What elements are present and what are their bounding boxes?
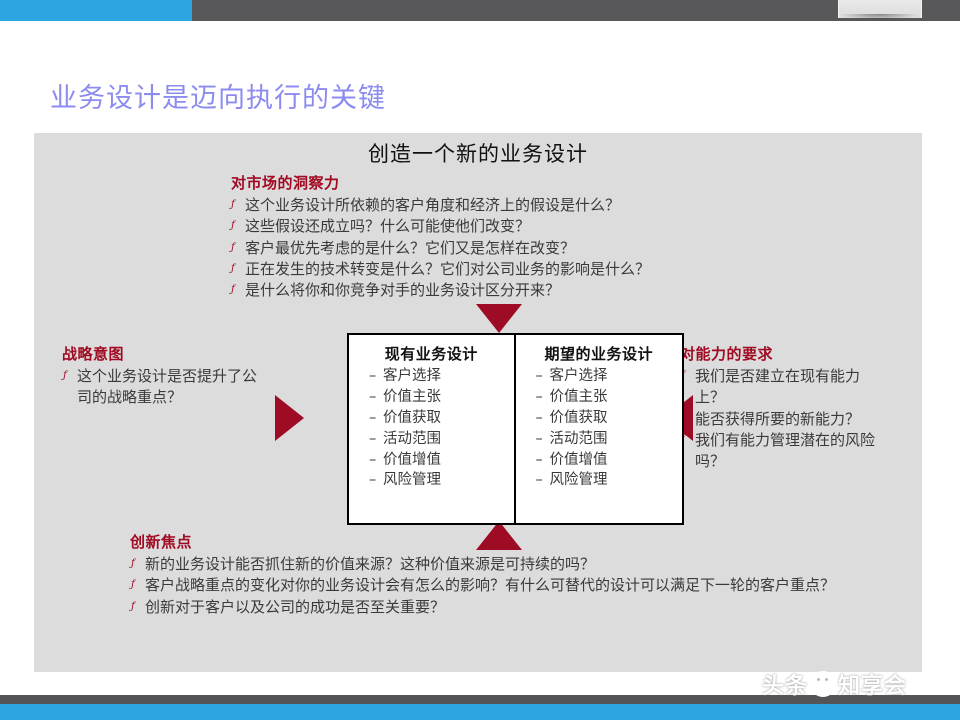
dash-marker: – xyxy=(536,387,550,408)
list-item: –价值增值 xyxy=(536,450,683,471)
bullet-icon: ƒ xyxy=(231,219,235,233)
item-text: 客户选择 xyxy=(550,368,608,384)
design-column-current: 现有业务设计 –客户选择 –价值主张 –价值获取 –活动范围 –价值增值 –风险… xyxy=(349,335,516,523)
bullet-icon: ƒ xyxy=(131,600,135,614)
dash-marker: – xyxy=(536,450,550,471)
item-text: 价值增值 xyxy=(383,452,441,468)
item-text: 价值获取 xyxy=(550,410,608,426)
bullet-icon: ƒ xyxy=(231,198,235,212)
dash-marker: – xyxy=(369,429,383,450)
market-insight-bullets: ƒ这个业务设计所依赖的客户角度和经济上的假设是什么？ ƒ这些假设还成立吗？什么可… xyxy=(230,195,830,301)
list-item: –客户选择 xyxy=(536,366,683,387)
design-column-items: –客户选择 –价值主张 –价值获取 –活动范围 –价值增值 –风险管理 xyxy=(349,366,514,491)
item-text: 价值主张 xyxy=(383,389,441,405)
list-item: ƒ客户战略重点的变化对你的业务设计会有怎么的影响？有什么可替代的设计可以满足下一… xyxy=(130,575,850,596)
bullet-icon: ƒ xyxy=(231,262,235,276)
bottom-bar-blue-segment xyxy=(0,704,960,720)
list-item: –价值主张 xyxy=(369,387,514,408)
list-item: –价值主张 xyxy=(536,387,683,408)
list-item: –风险管理 xyxy=(369,470,514,491)
list-item: ƒ这些假设还成立吗？什么可能使他们改变？ xyxy=(230,216,830,237)
strategic-intent-bullets: ƒ这个业务设计是否提升了公司的战略重点？ xyxy=(62,366,262,409)
content-panel: 创造一个新的业务设计 对市场的洞察力 ƒ这个业务设计所依赖的客户角度和经济上的假… xyxy=(34,133,922,672)
list-item: –价值获取 xyxy=(369,408,514,429)
bullet-text: 能否获得所要的新能力？ xyxy=(695,410,860,428)
item-text: 价值获取 xyxy=(383,410,441,426)
list-item: ƒ创新对于客户以及公司的成功是否至关重要？ xyxy=(130,597,850,618)
bullet-icon: ƒ xyxy=(131,578,135,592)
design-comparison-box: 现有业务设计 –客户选择 –价值主张 –价值获取 –活动范围 –价值增值 –风险… xyxy=(347,333,684,525)
list-item: ƒ是什么将你和你竞争对手的业务设计区分开来？ xyxy=(230,280,830,301)
item-text: 风险管理 xyxy=(550,472,608,488)
bullet-text: 新的业务设计能否抓住新的价值来源？这种价值来源是可持续的吗？ xyxy=(145,555,595,573)
list-item: ƒ我们是否建立在现有能力上？ xyxy=(680,366,880,409)
dash-marker: – xyxy=(369,387,383,408)
list-item: ƒ这个业务设计是否提升了公司的战略重点？ xyxy=(62,366,262,409)
item-text: 风险管理 xyxy=(383,472,441,488)
list-item: ƒ新的业务设计能否抓住新的价值来源？这种价值来源是可持续的吗？ xyxy=(130,554,850,575)
list-item: ƒ客户最优先考虑的是什么？它们又是怎样在改变？ xyxy=(230,238,830,259)
list-item: ƒ能否获得所要的新能力？ xyxy=(680,409,880,430)
dash-marker: – xyxy=(369,366,383,387)
strategic-intent-heading: 战略意图 xyxy=(62,343,262,364)
arrow-up-icon xyxy=(476,521,522,550)
item-text: 客户选择 xyxy=(383,368,441,384)
bullet-icon: ƒ xyxy=(131,557,135,571)
list-item: ƒ我们有能力管理潜在的风险吗？ xyxy=(680,430,880,473)
dash-marker: – xyxy=(369,408,383,429)
bullet-text: 我们有能力管理潜在的风险吗？ xyxy=(695,431,875,470)
list-item: –客户选择 xyxy=(369,366,514,387)
bullet-text: 创新对于客户以及公司的成功是否至关重要？ xyxy=(145,598,445,616)
design-column-title: 期望的业务设计 xyxy=(516,343,683,364)
dash-marker: – xyxy=(536,366,550,387)
design-column-desired: 期望的业务设计 –客户选择 –价值主张 –价值获取 –活动范围 –价值增值 –风… xyxy=(516,335,683,523)
panel-heading: 创造一个新的业务设计 xyxy=(34,138,922,168)
item-text: 活动范围 xyxy=(383,431,441,447)
arrow-down-icon xyxy=(476,304,522,333)
item-text: 价值增值 xyxy=(550,452,608,468)
list-item: ƒ正在发生的技术转变是什么？它们对公司业务的影响是什么？ xyxy=(230,259,830,280)
arrow-right-icon xyxy=(275,395,304,441)
dash-marker: – xyxy=(536,429,550,450)
bullet-icon: ƒ xyxy=(63,369,67,383)
bullet-text: 客户最优先考虑的是什么？它们又是怎样在改变？ xyxy=(245,239,575,257)
bullet-text: 我们是否建立在现有能力上？ xyxy=(695,367,860,406)
dash-marker: – xyxy=(536,470,550,491)
top-bar-blue-segment xyxy=(0,0,192,21)
dash-marker: – xyxy=(536,408,550,429)
section-strategic-intent: 战略意图 ƒ这个业务设计是否提升了公司的战略重点？ xyxy=(62,343,262,409)
capability-requirement-heading: 对能力的要求 xyxy=(680,343,880,364)
bullet-text: 这些假设还成立吗？什么可能使他们改变？ xyxy=(245,217,530,235)
bullet-text: 这个业务设计是否提升了公司的战略重点？ xyxy=(77,367,257,406)
watermark-logo-icon xyxy=(810,671,836,697)
top-right-tab-shadow xyxy=(840,14,918,20)
innovation-focus-bullets: ƒ新的业务设计能否抓住新的价值来源？这种价值来源是可持续的吗？ ƒ客户战略重点的… xyxy=(130,554,850,618)
bottom-bar-gray-segment xyxy=(0,695,960,704)
capability-requirement-bullets: ƒ我们是否建立在现有能力上？ ƒ能否获得所要的新能力？ ƒ我们有能力管理潜在的风… xyxy=(680,366,880,472)
list-item: –活动范围 xyxy=(536,429,683,450)
item-text: 价值主张 xyxy=(550,389,608,405)
bullet-text: 正在发生的技术转变是什么？它们对公司业务的影响是什么？ xyxy=(245,260,650,278)
bullet-text: 这个业务设计所依赖的客户角度和经济上的假设是什么？ xyxy=(245,196,620,214)
slide-title: 业务设计是迈向执行的关键 xyxy=(50,76,386,115)
list-item: –价值增值 xyxy=(369,450,514,471)
market-insight-heading: 对市场的洞察力 xyxy=(231,172,830,193)
section-capability-requirement: 对能力的要求 ƒ我们是否建立在现有能力上？ ƒ能否获得所要的新能力？ ƒ我们有能… xyxy=(680,343,880,472)
bullet-icon: ƒ xyxy=(231,241,235,255)
list-item: –活动范围 xyxy=(369,429,514,450)
dash-marker: – xyxy=(369,450,383,471)
top-decoration-bar xyxy=(0,0,960,21)
dash-marker: – xyxy=(369,470,383,491)
list-item: –风险管理 xyxy=(536,470,683,491)
design-column-items: –客户选择 –价值主张 –价值获取 –活动范围 –价值增值 –风险管理 xyxy=(516,366,683,491)
bullet-icon: ƒ xyxy=(231,283,235,297)
list-item: ƒ这个业务设计所依赖的客户角度和经济上的假设是什么？ xyxy=(230,195,830,216)
design-column-title: 现有业务设计 xyxy=(349,343,514,364)
list-item: –价值获取 xyxy=(536,408,683,429)
bullet-text: 是什么将你和你竞争对手的业务设计区分开来？ xyxy=(245,281,560,299)
bullet-text: 客户战略重点的变化对你的业务设计会有怎么的影响？有什么可替代的设计可以满足下一轮… xyxy=(145,576,835,594)
section-market-insight: 对市场的洞察力 ƒ这个业务设计所依赖的客户角度和经济上的假设是什么？ ƒ这些假设… xyxy=(230,172,830,301)
item-text: 活动范围 xyxy=(550,431,608,447)
